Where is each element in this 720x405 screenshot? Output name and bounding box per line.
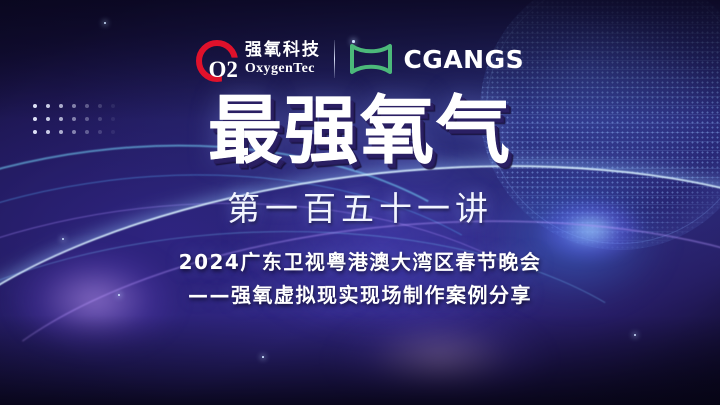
oxygentec-name-en: OxygenTec — [245, 62, 321, 76]
description-line-2: ——强氧虚拟现实现场制作案例分享 — [188, 279, 532, 308]
description-block: 2024广东卫视粤港澳大湾区春节晚会 ——强氧虚拟现实现场制作案例分享 — [179, 246, 542, 308]
brand-lockup: O2 强氧科技 OxygenTec CGANGS — [196, 38, 524, 80]
o2-numeral: O2 — [208, 58, 237, 81]
oxygentec-name-cn: 强氧科技 — [245, 42, 321, 59]
page-title: 最强氧气 — [208, 94, 512, 168]
cgangs-wordmark: CGANGS — [403, 45, 524, 74]
description-line-1: 2024广东卫视粤港澳大湾区春节晚会 — [179, 246, 542, 275]
oxygentec-logo: O2 强氧科技 OxygenTec — [196, 38, 321, 80]
oxygentec-wordmark: 强氧科技 OxygenTec — [245, 42, 321, 76]
presentation-slide: O2 强氧科技 OxygenTec CGANGS 最强氧气 第一百五十一讲 20… — [0, 0, 720, 405]
slide-content: O2 强氧科技 OxygenTec CGANGS 最强氧气 第一百五十一讲 20… — [0, 0, 720, 405]
cgangs-mark-icon — [348, 42, 394, 76]
lecture-number-label: 第一百五十一讲 — [227, 182, 493, 230]
brand-divider — [334, 40, 336, 78]
cgangs-logo: CGANGS — [348, 42, 524, 76]
o2-circle-icon: O2 — [196, 38, 238, 80]
